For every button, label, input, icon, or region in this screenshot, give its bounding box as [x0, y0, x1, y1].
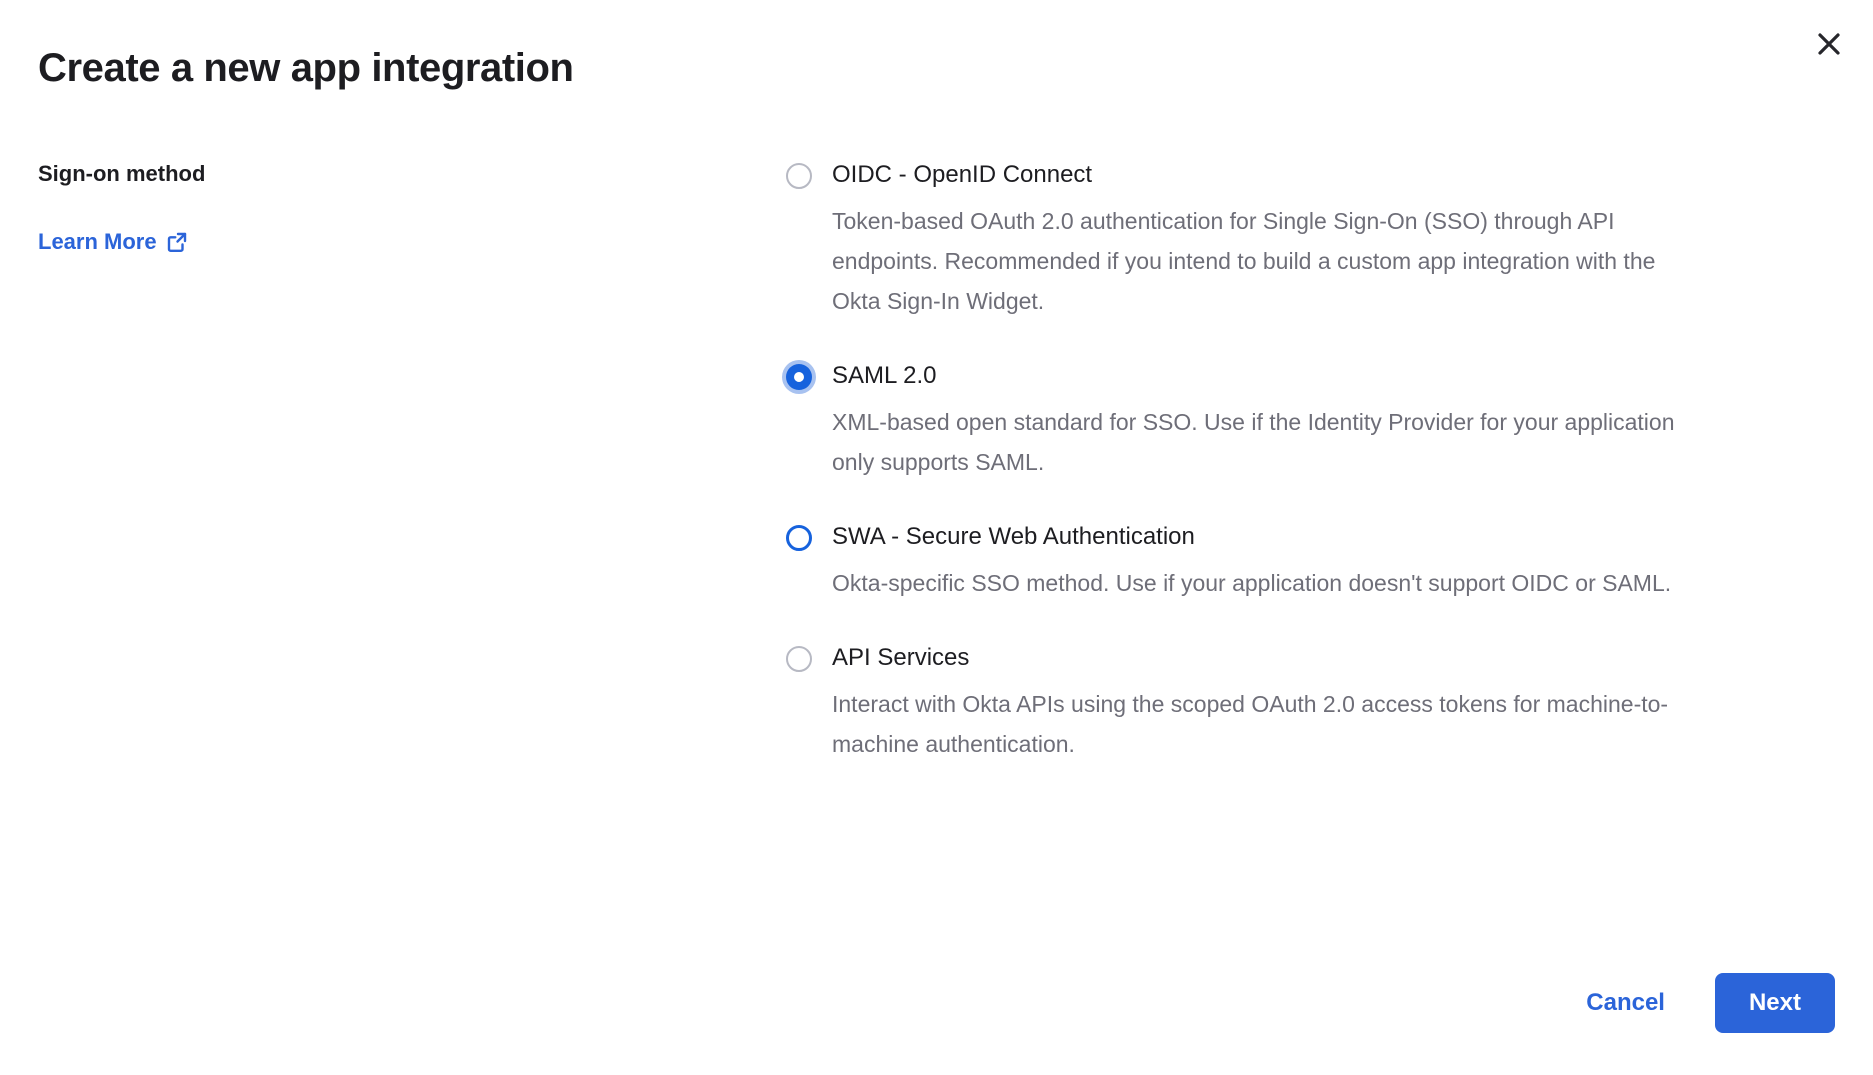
sign-on-method-label: Sign-on method — [38, 160, 598, 189]
left-column: Sign-on method Learn More — [38, 160, 598, 255]
learn-more-link[interactable]: Learn More — [38, 229, 188, 255]
radio-label-oidc: OIDC - OpenID Connect — [832, 160, 1790, 190]
radio-option-swa[interactable]: SWA - Secure Web Authentication Okta-spe… — [770, 522, 1790, 603]
radio-indicator-api-services[interactable] — [786, 646, 812, 672]
radio-description-swa: Okta-specific SSO method. Use if your ap… — [832, 563, 1677, 603]
dialog-footer: Cancel Next — [1582, 973, 1835, 1033]
cancel-button[interactable]: Cancel — [1582, 983, 1669, 1023]
next-button[interactable]: Next — [1715, 973, 1835, 1033]
close-icon — [1816, 31, 1842, 57]
radio-label-saml: SAML 2.0 — [832, 361, 1790, 391]
page-title: Create a new app integration — [38, 44, 574, 92]
radio-indicator-swa[interactable] — [786, 525, 812, 551]
radio-option-api-services[interactable]: API Services Interact with Okta APIs usi… — [770, 643, 1790, 764]
close-icon-button[interactable] — [1807, 22, 1851, 66]
learn-more-label: Learn More — [38, 229, 157, 255]
radio-description-saml: XML-based open standard for SSO. Use if … — [832, 402, 1677, 482]
radio-option-saml[interactable]: SAML 2.0 XML-based open standard for SSO… — [770, 361, 1790, 482]
create-app-integration-dialog: Create a new app integration Sign-on met… — [0, 0, 1873, 1075]
radio-label-api-services: API Services — [832, 643, 1790, 673]
radio-indicator-oidc[interactable] — [786, 163, 812, 189]
radio-description-api-services: Interact with Okta APIs using the scoped… — [832, 684, 1677, 764]
radio-option-oidc[interactable]: OIDC - OpenID Connect Token-based OAuth … — [770, 160, 1790, 321]
sign-on-method-radio-group[interactable]: OIDC - OpenID Connect Token-based OAuth … — [770, 160, 1790, 764]
radio-description-oidc: Token-based OAuth 2.0 authentication for… — [832, 201, 1677, 321]
radio-indicator-saml[interactable] — [786, 364, 812, 390]
radio-label-swa: SWA - Secure Web Authentication — [832, 522, 1790, 552]
external-link-icon — [166, 231, 188, 253]
